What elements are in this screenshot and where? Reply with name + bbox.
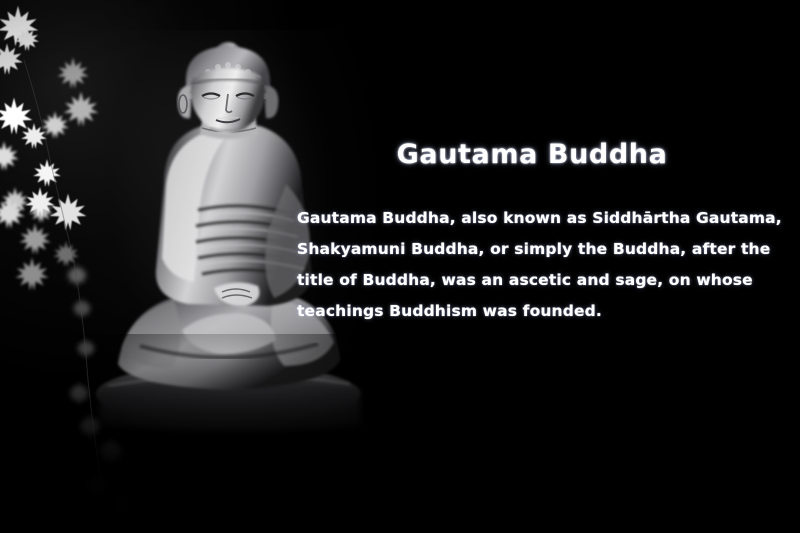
description-line: Gautama Buddha, also known as Siddhārtha… [297,203,775,234]
leaf-group-mid [0,187,93,319]
poster-canvas: Gautama Buddha Gautama Buddha, also know… [0,0,800,533]
leaf-group-bright [0,6,98,223]
description-line: teachings Buddhism was founded. [297,296,775,327]
maple-leaf-decoration [0,0,180,533]
page-title: Gautama Buddha [297,139,767,170]
description-paragraph: Gautama Buddha, also known as Siddhārtha… [297,203,775,327]
statue-head [178,42,279,134]
description-line: Shakyamuni Buddha, or simply the Buddha,… [297,234,775,265]
description-line: title of Buddha, was an ascetic and sage… [297,265,775,296]
leaf-group-faint [67,337,133,517]
